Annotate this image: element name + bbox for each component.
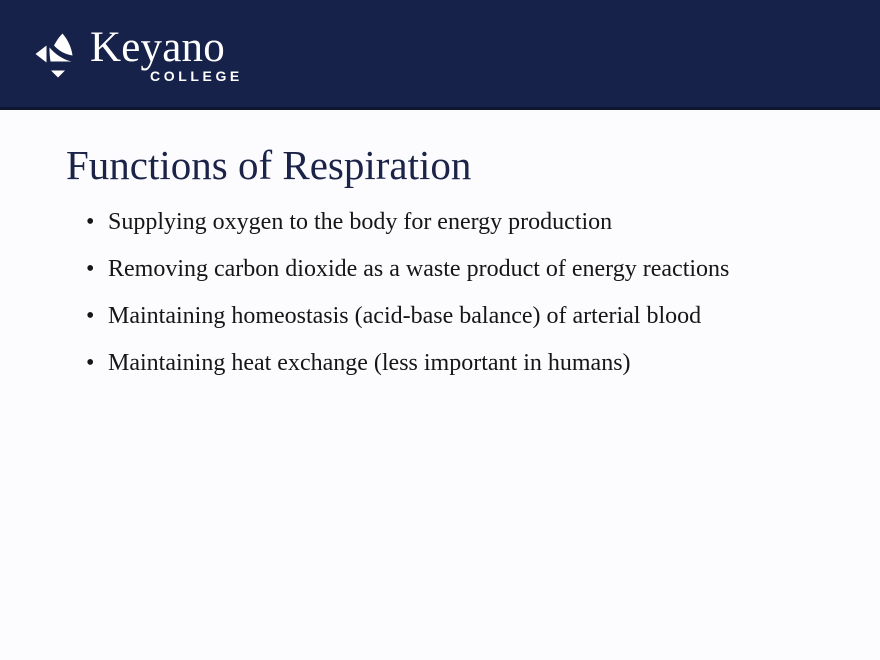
logo-brand-subtitle: COLLEGE (150, 68, 243, 84)
logo-brand-name: Keyano (90, 26, 225, 70)
header-separator-rule (0, 107, 880, 110)
bullet-marker-icon: • (86, 299, 94, 334)
list-item-text: Supplying oxygen to the body for energy … (108, 205, 784, 240)
sailboat-diamond-icon (32, 27, 84, 83)
presentation-slide: Keyano COLLEGE Functions of Respiration … (0, 0, 880, 660)
list-item-text: Removing carbon dioxide as a waste produ… (108, 252, 784, 287)
list-item: • Removing carbon dioxide as a waste pro… (84, 252, 784, 287)
bullet-marker-icon: • (86, 346, 94, 381)
logo-wordmark: Keyano COLLEGE (90, 26, 243, 84)
bullet-marker-icon: • (86, 205, 94, 240)
keyano-college-logo: Keyano COLLEGE (32, 26, 243, 86)
bullet-list: • Supplying oxygen to the body for energ… (84, 205, 784, 381)
list-item: • Supplying oxygen to the body for energ… (84, 205, 784, 240)
list-item-text: Maintaining homeostasis (acid-base balan… (108, 299, 784, 334)
list-item: • Maintaining homeostasis (acid-base bal… (84, 299, 784, 334)
bullet-marker-icon: • (86, 252, 94, 287)
list-item-text: Maintaining heat exchange (less importan… (108, 346, 784, 381)
list-item: • Maintaining heat exchange (less import… (84, 346, 784, 381)
page-title: Functions of Respiration (66, 142, 471, 188)
